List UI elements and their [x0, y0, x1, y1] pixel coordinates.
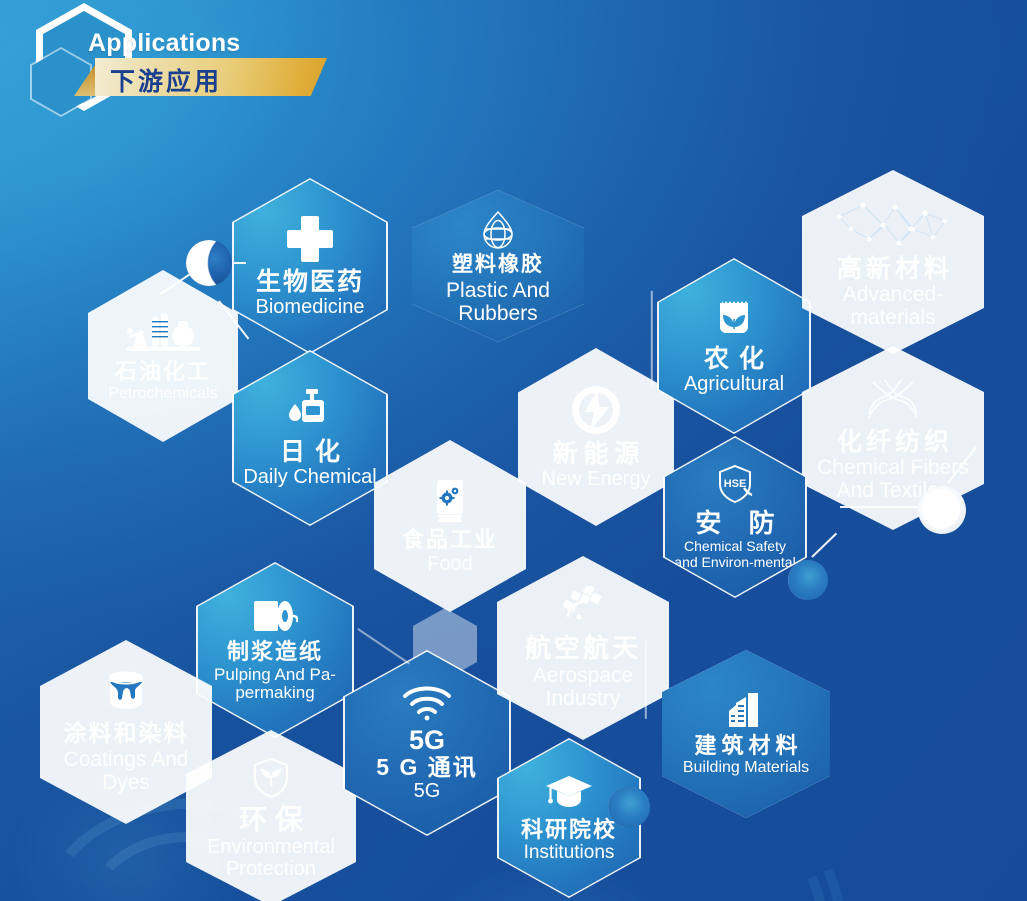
hex-label-en: Building Materials	[683, 760, 809, 777]
connector-line	[840, 506, 918, 508]
hex-label-en: Environmental Protection	[194, 836, 348, 880]
hex-label-cn: 塑料橡胶	[452, 254, 544, 276]
hex-label-en: Biomedicine	[256, 297, 365, 318]
hex-label-cn: 航空航天	[525, 635, 641, 663]
satellite-icon	[559, 586, 607, 630]
page-title-en: Applications	[88, 29, 240, 58]
wifi-signal-icon	[401, 683, 453, 721]
hex-label-cn: 农化	[694, 346, 774, 373]
hex-label-cn: 环保	[231, 805, 311, 835]
svg-text:HSE: HSE	[724, 478, 747, 490]
hex-label-cn: 安 防	[685, 510, 784, 538]
hex-label-cn: 涂料和染料	[64, 721, 189, 745]
hex-label-cn: 5 G 通讯	[376, 755, 477, 779]
shield-leaf-icon	[250, 756, 292, 800]
woven-fiber-icon	[865, 376, 921, 424]
hex-label-cn: 科研院校	[521, 818, 617, 841]
hex-label-en: Food	[427, 554, 473, 575]
hex-label-en: Advanced-materials	[810, 284, 976, 329]
hex-label-en: New Energy	[542, 469, 651, 490]
decor-dot-white	[918, 486, 966, 534]
header: Applications 下游应用	[0, 0, 420, 120]
infographic-canvas: Applications 下游应用	[0, 0, 1027, 901]
graduation-cap-icon	[545, 773, 593, 813]
hex-label-en: 5G	[414, 781, 441, 802]
hex-label-en: Plastic And Rubbers	[420, 279, 576, 325]
decor-dot-crescent	[608, 786, 650, 828]
hex-label-en: Petrochemicals	[108, 386, 217, 403]
decor-dot-dark	[186, 240, 232, 286]
buildings-icon	[726, 691, 766, 729]
polymer-droplet-icon	[480, 209, 516, 249]
snack-package-icon	[429, 477, 471, 523]
hex-label-en: Daily Chemical	[243, 467, 376, 488]
hex-badge-5g: 5G	[409, 726, 445, 755]
hex-label-en: Agricultural	[684, 374, 784, 395]
guide-line	[645, 641, 647, 719]
paint-bucket-icon	[105, 670, 147, 716]
oil-refinery-icon	[126, 309, 200, 355]
hex-label-en: Aerospace Industry	[505, 664, 661, 710]
hex-label-cn: 制浆造纸	[227, 640, 323, 663]
hex-label-cn: 日化	[270, 439, 350, 466]
hex-label-cn: 建筑材料	[689, 734, 802, 757]
hex-label-en: Institutions	[524, 843, 615, 863]
hex-label-cn: 石油化工	[115, 360, 211, 383]
molecular-network-icon	[833, 199, 953, 251]
hex-label-en: Coatings And Dyes	[48, 748, 204, 794]
paper-roll-icon	[252, 597, 298, 635]
seed-bag-icon	[713, 297, 755, 341]
hex-label-en: Chemical Safety and Environ-mental	[671, 539, 799, 571]
hse-shield-icon: HSE	[714, 463, 756, 505]
medical-cross-icon	[285, 214, 335, 264]
soap-bottle-icon	[288, 388, 332, 434]
hex-label-cn: 高新材料	[833, 256, 953, 283]
hex-label-en: Pulping And Pa-permaking	[204, 666, 346, 703]
guide-line	[651, 291, 653, 387]
lightning-bolt-icon	[570, 384, 622, 436]
hex-label-cn: 化纤纺织	[833, 429, 953, 456]
page-title-cn: 下游应用	[110, 62, 222, 98]
hex-label-cn: 食品工业	[402, 528, 498, 551]
decor-dot-crescent	[788, 560, 828, 600]
hex-label-cn: 新能源	[546, 441, 645, 468]
hex-label-cn: 生物医药	[256, 269, 364, 296]
